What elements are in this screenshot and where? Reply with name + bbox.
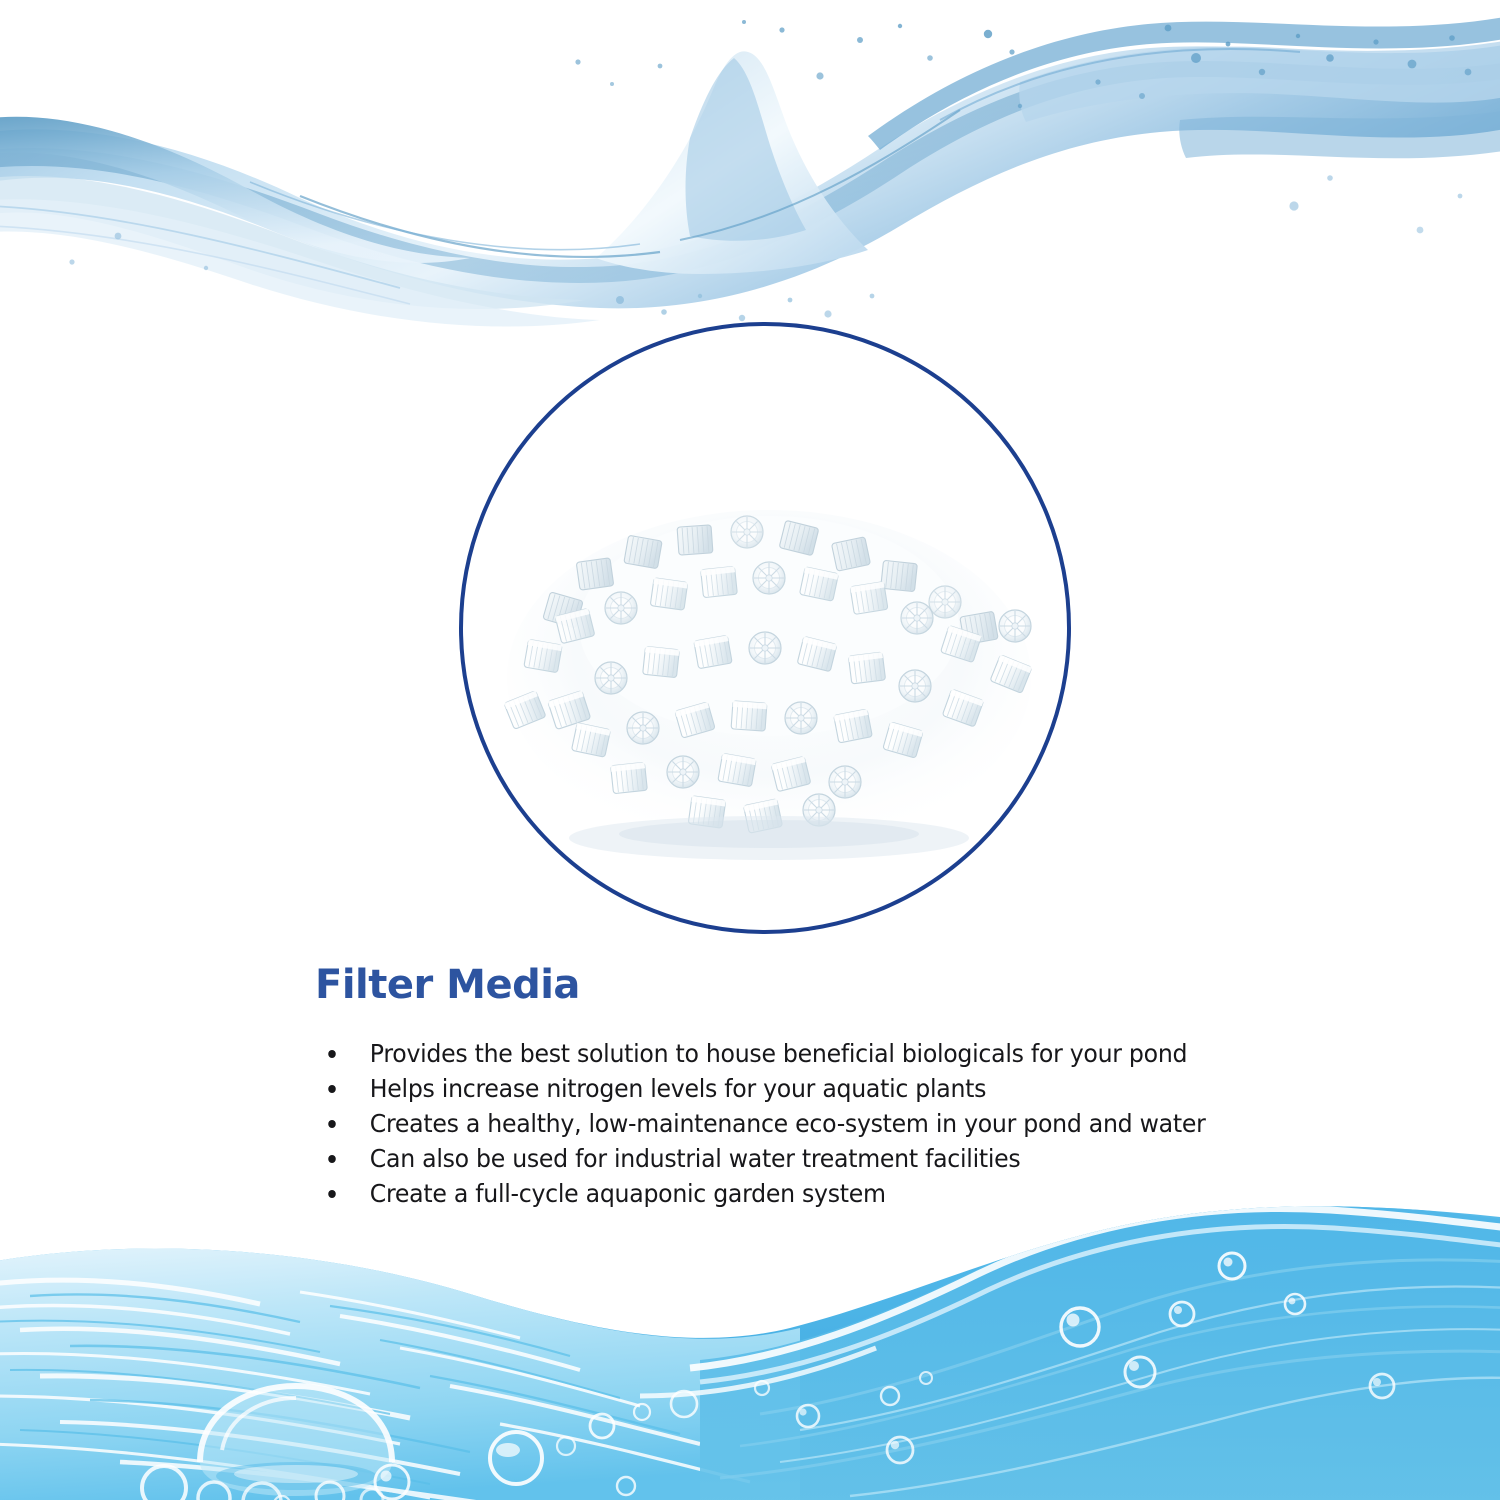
feature-content: Filter Media Provides the best solution … <box>315 962 1215 1211</box>
water-splash-graphic <box>0 0 1500 340</box>
list-item-label: Create a full-cycle aquaponic garden sys… <box>370 1179 886 1208</box>
bullet-dot-icon <box>328 1190 336 1198</box>
list-item: Helps increase nitrogen levels for your … <box>315 1071 1166 1106</box>
feature-bullet-list: Provides the best solution to house bene… <box>315 1036 1215 1211</box>
bullet-dot-icon <box>328 1120 336 1128</box>
list-item-label: Creates a healthy, low-maintenance eco-s… <box>370 1109 1206 1138</box>
list-item: Provides the best solution to house bene… <box>315 1036 1166 1071</box>
filter-media-photo <box>463 326 1071 934</box>
list-item-label: Helps increase nitrogen levels for your … <box>370 1074 986 1103</box>
bullet-dot-icon <box>328 1155 336 1163</box>
list-item: Creates a healthy, low-maintenance eco-s… <box>315 1106 1166 1141</box>
bullet-dot-icon <box>328 1050 336 1058</box>
bullet-dot-icon <box>328 1085 336 1093</box>
water-surface-graphic <box>0 1200 1500 1500</box>
product-feature-page: Filter Media Provides the best solution … <box>0 0 1500 1500</box>
list-item-label: Can also be used for industrial water tr… <box>370 1144 1021 1173</box>
list-item-label: Provides the best solution to house bene… <box>370 1039 1187 1068</box>
page-title: Filter Media <box>315 962 1215 1008</box>
list-item: Create a full-cycle aquaponic garden sys… <box>315 1176 1166 1211</box>
product-circle-frame <box>459 322 1071 934</box>
list-item: Can also be used for industrial water tr… <box>315 1141 1166 1176</box>
